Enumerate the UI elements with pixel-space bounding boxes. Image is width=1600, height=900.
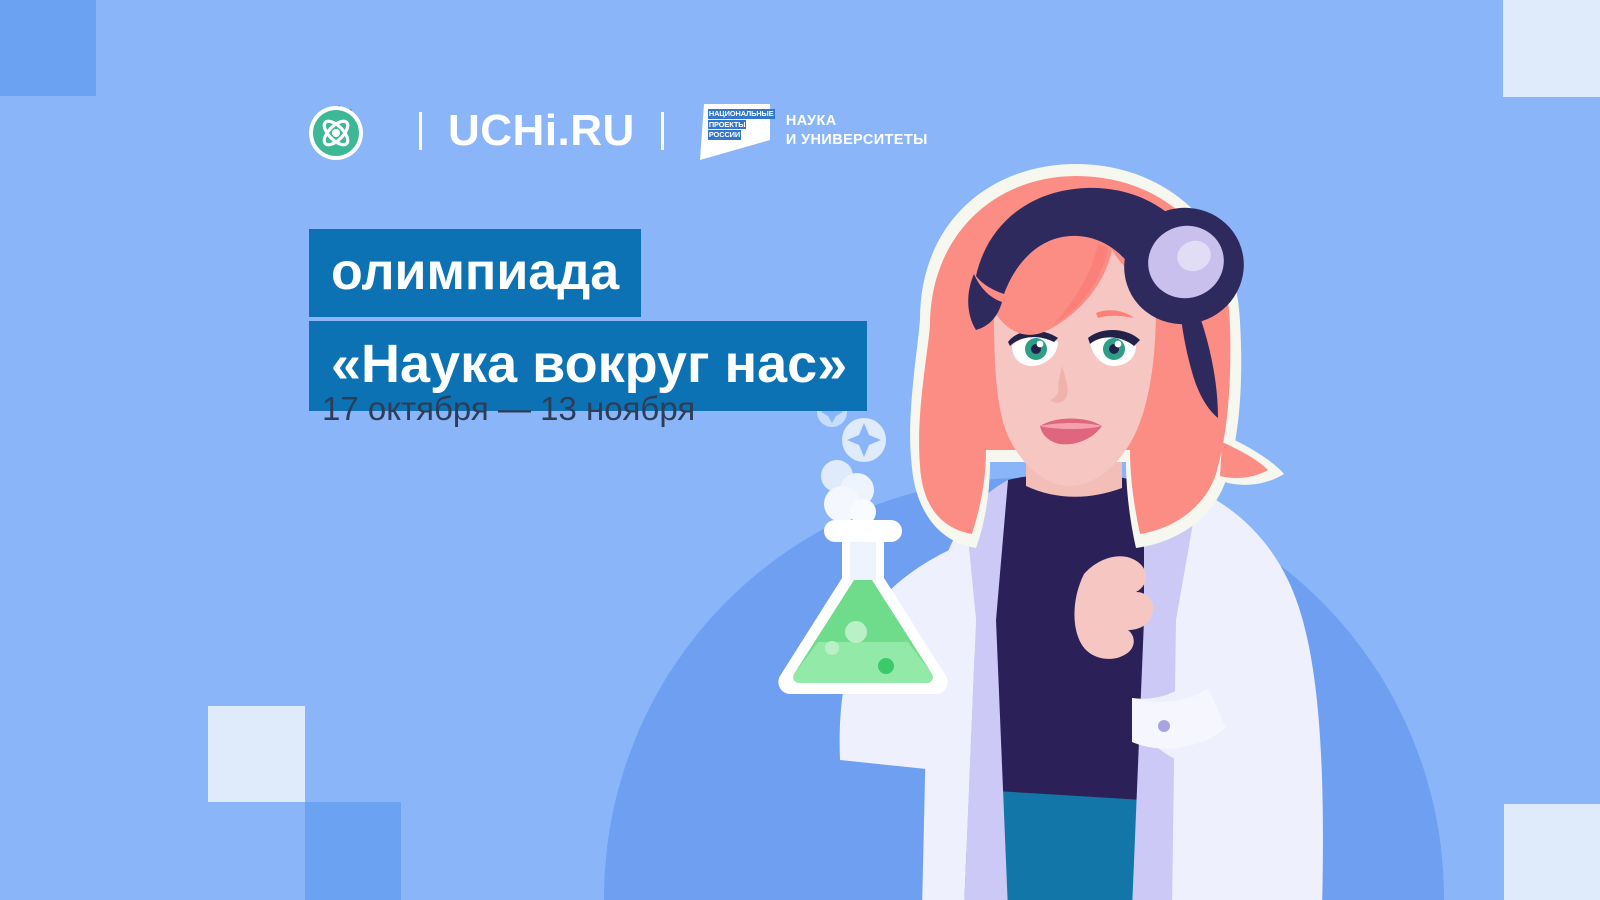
np-flag-line-3: РОССИИ — [708, 130, 741, 140]
promo-banner: UCHi.RU НАЦИОНАЛЬНЫЕ ПРОЕКТЫ РОССИИ НАУК… — [0, 0, 1600, 900]
national-projects-logo[interactable]: НАЦИОНАЛЬНЫЕ ПРОЕКТЫ РОССИИ НАУКА И УНИВ… — [694, 100, 928, 162]
vertical-divider-icon — [661, 112, 664, 150]
sparkle-large-icon — [842, 418, 886, 462]
national-projects-title: НАУКА И УНИВЕРСИТЕТЫ — [786, 112, 928, 150]
headline-line-1: олимпиада — [309, 229, 641, 317]
erlenmeyer-flask-group — [760, 380, 990, 700]
event-date-range: 17 октября — 13 ноября — [322, 392, 695, 425]
np-flag-line-1: НАЦИОНАЛЬНЫЕ — [708, 109, 775, 119]
national-projects-flag-text: НАЦИОНАЛЬНЫЕ ПРОЕКТЫ РОССИИ — [708, 109, 770, 141]
decor-square-top-right — [1503, 0, 1600, 97]
page-title: олимпиада «Наука вокруг нас» — [309, 229, 867, 411]
np-title-line-1: НАУКА — [786, 112, 928, 131]
decor-square-top-left — [0, 0, 96, 96]
uchi-wordmark[interactable]: UCHi.RU — [448, 109, 635, 153]
np-title-line-2: И УНИВЕРСИТЕТЫ — [786, 131, 928, 150]
decor-square-bottom-left-light — [208, 706, 305, 802]
decor-square-bottom-left-dark — [305, 802, 401, 900]
vertical-divider-icon — [419, 112, 422, 150]
headline-line-1-row: олимпиада — [309, 229, 867, 317]
decor-square-bottom-right — [1504, 804, 1600, 900]
national-projects-flag-icon: НАЦИОНАЛЬНЫЕ ПРОЕКТЫ РОССИИ — [694, 100, 772, 162]
atom-circle-icon[interactable] — [305, 100, 367, 162]
np-flag-line-2: ПРОЕКТЫ — [708, 120, 747, 130]
logo-bar: UCHi.RU НАЦИОНАЛЬНЫЕ ПРОЕКТЫ РОССИИ НАУК… — [305, 96, 928, 166]
